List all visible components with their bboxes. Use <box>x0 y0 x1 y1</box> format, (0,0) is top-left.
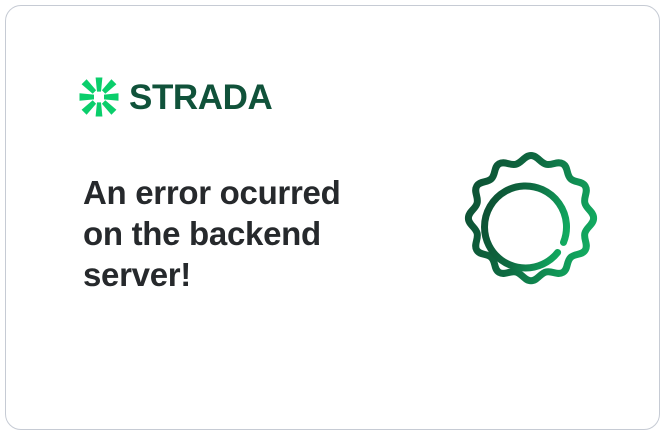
brand-logo: STRADA <box>79 76 272 118</box>
error-card: STRADA An error ocurred on the backend s… <box>5 5 660 430</box>
error-message: An error ocurred on the backend server! <box>83 172 383 295</box>
gear-cog-icon <box>452 149 610 307</box>
error-screen: STRADA An error ocurred on the backend s… <box>0 0 666 436</box>
brand-wordmark: STRADA <box>129 80 272 115</box>
strada-asterisk-icon <box>79 77 119 117</box>
